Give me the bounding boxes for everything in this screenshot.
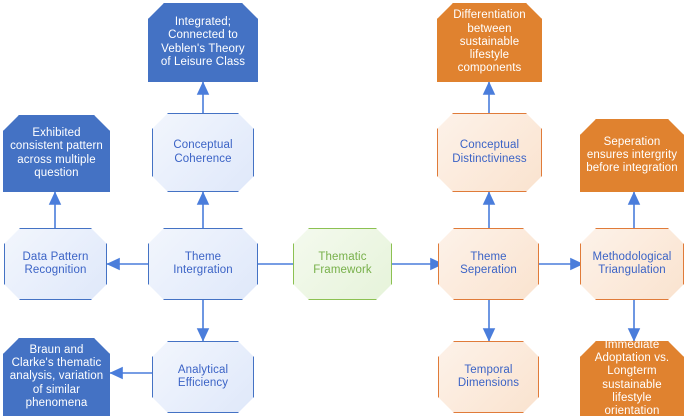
node-label: Differentiation between sustainable life…	[437, 9, 542, 76]
node-temporal-dimensions[interactable]: Temporal Dimensions	[438, 341, 539, 413]
node-label: Exhibited consistent pattern across mult…	[7, 127, 106, 180]
node-seperation-integrity[interactable]: Seperation ensures intergrity before int…	[580, 119, 684, 192]
node-label: Data Pattern Recognition	[20, 251, 92, 278]
node-theme-intergration[interactable]: Theme Intergration	[148, 228, 258, 300]
node-label: Theme Intergration	[170, 251, 236, 278]
node-braun-clarke[interactable]: Braun and Clarke's thematic analysis, va…	[3, 338, 110, 416]
node-label: Temporal Dimensions	[455, 364, 522, 391]
node-immediate-adoptation[interactable]: Immediate Adoptation vs. Longterm sustai…	[580, 341, 684, 416]
node-conceptual-distinctiviness[interactable]: Conceptual Distinctiviness	[437, 113, 542, 192]
node-label: Integrated; Connected to Veblen's Theory…	[158, 16, 248, 69]
node-label: Seperation ensures intergrity before int…	[583, 136, 681, 176]
node-differentiation-components[interactable]: Differentiation between sustainable life…	[437, 3, 542, 82]
node-exhibited-pattern[interactable]: Exhibited consistent pattern across mult…	[3, 115, 110, 192]
node-analytical-efficiency[interactable]: Analytical Efficiency	[152, 341, 254, 413]
node-label: Immediate Adoptation vs. Longterm sustai…	[580, 339, 684, 416]
node-label: Theme Seperation	[457, 251, 520, 278]
node-theme-seperation[interactable]: Theme Seperation	[438, 228, 539, 300]
node-conceptual-coherence[interactable]: Conceptual Coherence	[152, 113, 254, 192]
node-integrated-veblen[interactable]: Integrated; Connected to Veblen's Theory…	[148, 3, 258, 82]
node-label: Conceptual Coherence	[170, 139, 235, 166]
node-label: Thematic Framework	[310, 251, 375, 278]
node-label: Analytical Efficiency	[175, 364, 231, 391]
node-methodological-triangulation[interactable]: Methodological Triangulation	[580, 228, 684, 300]
node-label: Braun and Clarke's thematic analysis, va…	[7, 344, 107, 411]
node-data-pattern-recognition[interactable]: Data Pattern Recognition	[4, 228, 107, 300]
node-label: Conceptual Distinctiviness	[449, 139, 530, 166]
node-label: Methodological Triangulation	[590, 251, 675, 278]
node-thematic-framework[interactable]: Thematic Framework	[293, 228, 392, 300]
flowchart-canvas: Integrated; Connected to Veblen's Theory…	[0, 0, 685, 416]
